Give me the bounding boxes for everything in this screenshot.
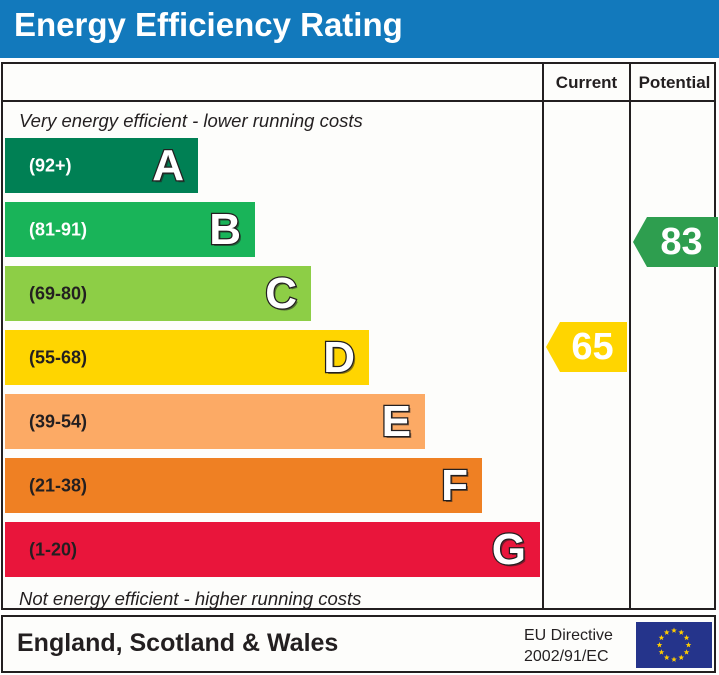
band-range-d: (55-68) — [29, 347, 87, 368]
rating-marker-current: 65 — [546, 322, 627, 372]
column-header-potential: Potential — [631, 73, 718, 93]
band-range-f: (21-38) — [29, 475, 87, 496]
rating-marker-potential: 83 — [633, 217, 718, 267]
column-divider-potential — [629, 64, 631, 608]
band-letter-d: D — [323, 336, 355, 380]
band-bar-g: (1-20)G — [5, 522, 540, 577]
band-letter-g: G — [492, 528, 526, 572]
caption-inefficient: Not energy efficient - higher running co… — [19, 588, 361, 610]
band-bars: (92+)A(81-91)B(69-80)C(55-68)D(39-54)E(2… — [3, 138, 538, 580]
header-rule — [3, 100, 714, 102]
band-bar-b: (81-91)B — [5, 202, 255, 257]
title-band: Energy Efficiency Rating — [0, 0, 719, 58]
footer: England, Scotland & Wales EU Directive 2… — [1, 615, 716, 673]
band-range-e: (39-54) — [29, 411, 87, 432]
band-letter-f: F — [441, 464, 468, 508]
band-range-c: (69-80) — [29, 283, 87, 304]
caption-efficient: Very energy efficient - lower running co… — [19, 110, 363, 132]
footer-directive-label: EU Directive 2002/91/EC — [524, 625, 613, 667]
rating-table: Current Potential Very energy efficient … — [1, 62, 716, 610]
band-range-g: (1-20) — [29, 539, 77, 560]
footer-region-label: England, Scotland & Wales — [17, 629, 338, 658]
energy-efficiency-rating-chart: Energy Efficiency Rating Current Potenti… — [0, 0, 719, 675]
band-letter-c: C — [265, 272, 297, 316]
band-bar-a: (92+)A — [5, 138, 198, 193]
band-letter-a: A — [152, 144, 184, 188]
band-range-b: (81-91) — [29, 219, 87, 240]
directive-line-1: EU Directive — [524, 625, 613, 646]
directive-line-2: 2002/91/EC — [524, 646, 613, 667]
column-header-current: Current — [544, 73, 629, 93]
band-letter-e: E — [382, 400, 411, 444]
band-letter-b: B — [209, 208, 241, 252]
page-title: Energy Efficiency Rating — [14, 6, 403, 44]
band-bar-c: (69-80)C — [5, 266, 311, 321]
band-bar-e: (39-54)E — [5, 394, 425, 449]
eu-flag-icon — [636, 622, 712, 668]
column-divider-current — [542, 64, 544, 608]
band-bar-d: (55-68)D — [5, 330, 369, 385]
band-bar-f: (21-38)F — [5, 458, 482, 513]
band-range-a: (92+) — [29, 155, 72, 176]
